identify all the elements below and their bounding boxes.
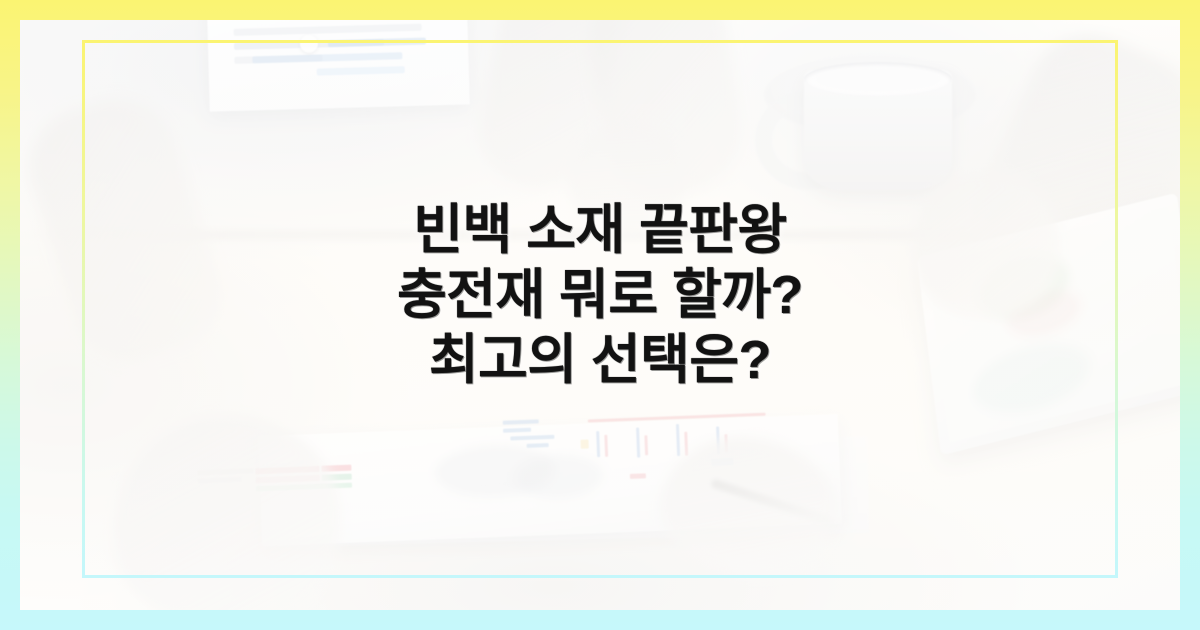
headline-line-3: 최고의 선택은?: [0, 328, 1200, 393]
thumbnail-canvas: 빈백 소재 끝판왕 충전재 뭐로 할까? 최고의 선택은?: [0, 0, 1200, 630]
headline-line-2: 충전재 뭐로 할까?: [0, 263, 1200, 328]
headline-line-1: 빈백 소재 끝판왕: [0, 198, 1200, 263]
cup-liquid: [816, 69, 940, 91]
document-with-chart-rows: [206, 20, 469, 112]
headline-text: 빈백 소재 끝판왕 충전재 뭐로 할까? 최고의 선택은?: [0, 198, 1200, 392]
